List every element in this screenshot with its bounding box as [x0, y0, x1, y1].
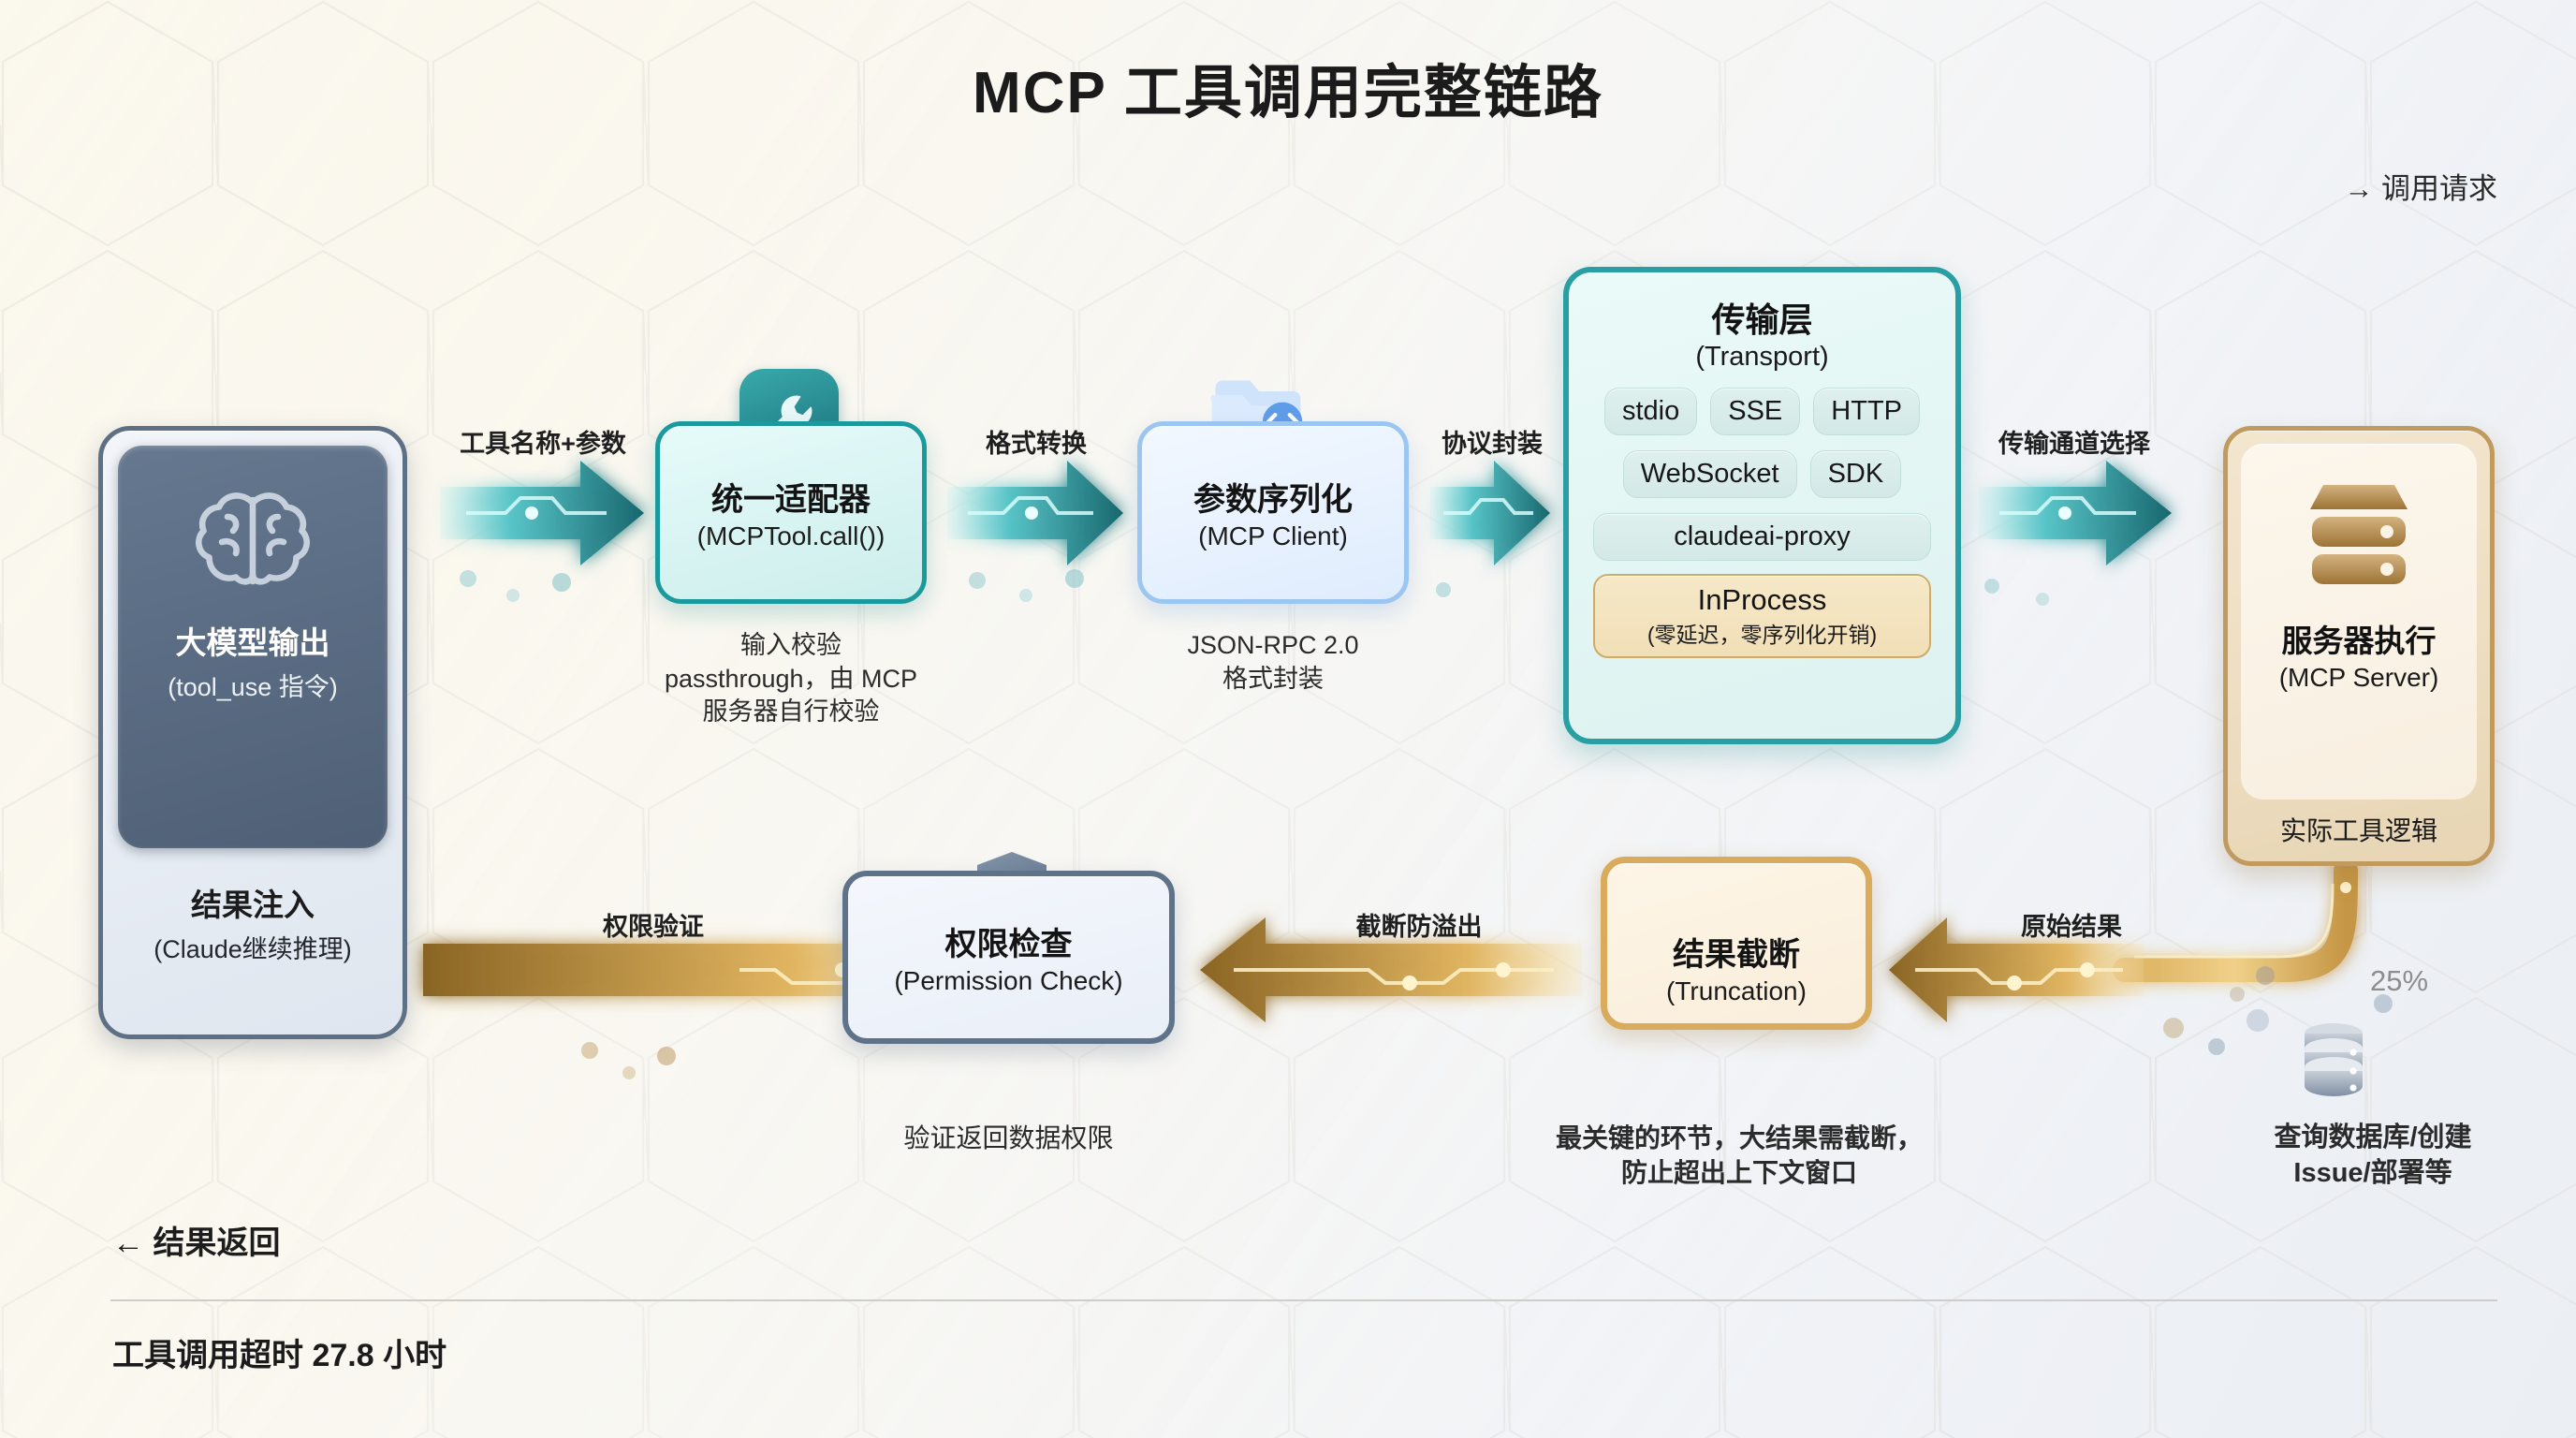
curved-return-connector — [2125, 871, 2351, 970]
transport-chip-sse[interactable]: SSE — [1710, 388, 1800, 435]
arrow-label-truncate-overflow: 截断防溢出 — [1307, 906, 1531, 943]
server-icon — [2295, 477, 2422, 595]
truncation-caption: 最关键的环节，大结果需截断， 防止超出上下文窗口 — [1505, 1122, 1973, 1191]
node-truncation[interactable]: 结果截断 (Truncation) — [1601, 857, 1872, 1030]
transport-chip-row-2: WebSocket SDK — [1593, 450, 1931, 498]
adapter-title: 统一适配器 — [711, 474, 871, 520]
transport-chip-sdk[interactable]: SDK — [1810, 450, 1902, 498]
permission-subtitle: (Permission Check) — [894, 966, 1122, 996]
llm-output-subtitle: (tool_use 指令) — [168, 667, 338, 703]
result-injection-subtitle: (Claude继续推理) — [118, 929, 388, 965]
inprocess-label: InProcess — [1604, 583, 1920, 617]
server-footer-label: 实际工具逻辑 — [2241, 811, 2477, 848]
diagram-canvas: MCP 工具调用完整链路 → 调用请求 — [0, 0, 2576, 1438]
node-llm-output[interactable]: 大模型输出 (tool_use 指令) 结果注入 (Claude继续推理) — [98, 426, 407, 1039]
transport-chip-claudeai-proxy[interactable]: claudeai-proxy — [1593, 513, 1931, 561]
result-injection-title: 结果注入 — [118, 880, 388, 925]
arrow-label-transport-channel-select: 传输通道选择 — [1962, 423, 2187, 460]
server-inner-panel: 服务器执行 (MCP Server) — [2241, 444, 2477, 800]
datasource-caption: 查询数据库/创建 Issue/部署等 — [2218, 1120, 2527, 1192]
serializer-caption: JSON-RPC 2.0 格式封装 — [1105, 629, 1442, 696]
serializer-title: 参数序列化 — [1193, 474, 1353, 520]
truncation-subtitle: (Truncation) — [1666, 976, 1807, 1006]
node-mcp-server[interactable]: 服务器执行 (MCP Server) 实际工具逻辑 — [2223, 426, 2495, 866]
arrow-protocol-encapsulation — [1430, 461, 1550, 565]
truncation-title: 结果截断 — [1673, 929, 1800, 975]
arrow-label-permission-verify: 权限验证 — [541, 906, 766, 943]
arrow-transport-channel-select — [1979, 461, 2172, 565]
server-subtitle: (MCP Server) — [2279, 663, 2439, 693]
permission-caption: 验证返回数据权限 — [842, 1122, 1175, 1156]
database-icon — [2295, 1020, 2372, 1099]
adapter-subtitle: (MCPTool.call()) — [697, 521, 885, 551]
server-title: 服务器执行 — [2282, 616, 2437, 661]
node-transport-layer[interactable]: 传输层 (Transport) stdio SSE HTTP WebSocket… — [1563, 267, 1961, 744]
footer-divider — [110, 1299, 2497, 1301]
transport-chip-inprocess[interactable]: InProcess (零延迟，零序列化开销) — [1593, 574, 1931, 658]
transport-subtitle: (Transport) — [1593, 342, 1931, 373]
transport-title: 传输层 — [1593, 293, 1931, 342]
brain-icon — [183, 472, 323, 612]
arrow-label-protocol-encapsulation: 协议封装 — [1413, 423, 1571, 460]
arrow-format-convert — [947, 461, 1123, 565]
footer-note: 工具调用超时 27.8 小时 — [112, 1329, 446, 1375]
node-param-serialization[interactable]: 参数序列化 (MCP Client) — [1137, 421, 1409, 604]
transport-chip-http[interactable]: HTTP — [1813, 388, 1920, 435]
arrow-label-format-convert: 格式转换 — [947, 423, 1125, 460]
node-unified-adapter[interactable]: 统一适配器 (MCPTool.call()) — [655, 421, 927, 604]
legend-backward: ← 结果返回 — [112, 1217, 280, 1263]
progress-percent-label: 25% — [2370, 964, 2428, 998]
transport-chip-websocket[interactable]: WebSocket — [1623, 450, 1797, 498]
node-permission-check[interactable]: 权限检查 (Permission Check) — [842, 871, 1175, 1044]
llm-output-inner-panel: 大模型输出 (tool_use 指令) — [118, 446, 388, 848]
transport-chip-stdio[interactable]: stdio — [1604, 388, 1697, 435]
serializer-subtitle: (MCP Client) — [1198, 521, 1348, 551]
permission-title: 权限检查 — [945, 918, 1073, 964]
llm-output-title: 大模型输出 — [176, 618, 330, 663]
transport-chip-row-3: claudeai-proxy — [1593, 513, 1931, 561]
inprocess-note: (零延迟，零序列化开销) — [1604, 617, 1920, 649]
transport-chip-row-1: stdio SSE HTTP — [1593, 388, 1931, 435]
adapter-caption: 输入校验 passthrough，由 MCP 服务器自行校验 — [585, 629, 997, 729]
arrow-tool-name-params — [440, 461, 644, 565]
arrow-label-raw-result: 原始结果 — [1992, 906, 2151, 943]
arrow-label-tool-name-params: 工具名称+参数 — [440, 423, 646, 460]
